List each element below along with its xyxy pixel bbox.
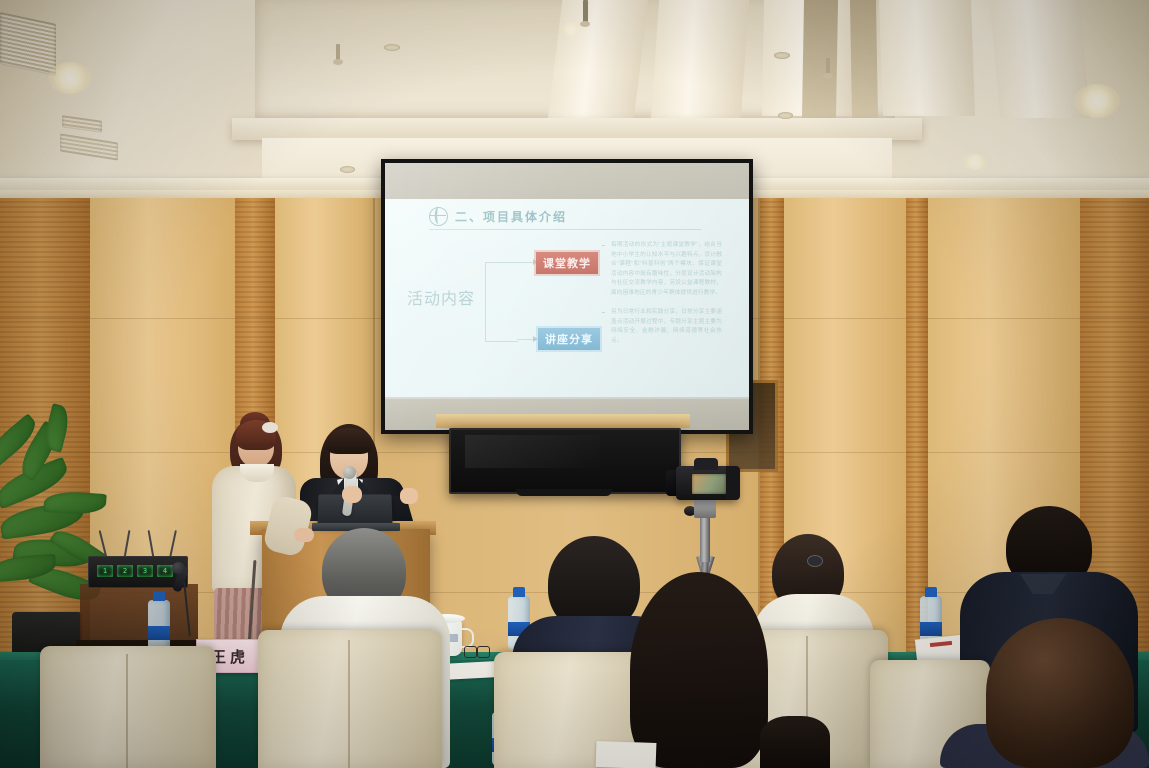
paper-sheet <box>596 741 657 768</box>
ceiling-rib <box>651 0 749 118</box>
downlight <box>560 22 582 37</box>
ceiling-fixture <box>340 166 355 173</box>
tv-reflection <box>465 435 602 468</box>
camera-viewfinder <box>694 458 718 470</box>
microphone-head-icon <box>343 466 356 479</box>
presentation-slide: 二、项目具体介绍 活动内容 课堂教学 讲座分享 每期活动的形式为“主题课堂教学”… <box>385 199 749 397</box>
ceiling <box>0 0 1149 180</box>
projection-screen: 二、项目具体介绍 活动内容 课堂教学 讲座分享 每期活动的形式为“主题课堂教学”… <box>381 159 753 434</box>
hair-scrunchie <box>262 422 278 433</box>
tv-stand <box>516 489 612 496</box>
presenter-right-mic-hand <box>342 486 362 503</box>
attendee-3-head <box>630 572 768 768</box>
camera-grip <box>726 466 740 500</box>
receiver-channel-display: 3 <box>137 565 153 577</box>
ceiling-fixture <box>778 112 793 119</box>
chair-seam <box>126 654 128 768</box>
chair-seam <box>348 640 350 768</box>
ceiling-rib <box>548 0 649 120</box>
conference-room-photo: 二、项目具体介绍 活动内容 课堂教学 讲座分享 每期活动的形式为“主题课堂教学”… <box>0 0 1149 768</box>
ceiling-projector-mount <box>583 0 588 22</box>
screen-letterbox-top <box>385 163 749 199</box>
ceiling-tray-recess <box>255 0 895 122</box>
eyeglasses <box>464 646 490 658</box>
downlight <box>1074 84 1120 118</box>
slide-title: 二、项目具体介绍 <box>429 207 567 226</box>
presenter-right-hand <box>400 488 418 504</box>
tv-shelf <box>436 414 690 428</box>
globe-icon <box>429 207 448 226</box>
sprinkler-icon <box>826 58 830 74</box>
slide-title-rule <box>429 229 701 230</box>
hair-clip <box>808 556 822 566</box>
presenter-left-hand <box>294 528 314 542</box>
presenter-right-bangs <box>326 428 372 454</box>
receiver-channel-display: 4 <box>157 565 173 577</box>
diagram-arrow-top <box>517 262 537 263</box>
diagram-branch-classroom: 课堂教学 <box>536 252 598 274</box>
ceiling-tray-lip <box>232 118 922 140</box>
tripod-head[interactable] <box>694 498 716 518</box>
ceiling-rib <box>879 0 975 116</box>
chair <box>40 646 216 768</box>
sprinkler-icon <box>336 44 340 60</box>
slide-paragraph-2: 另为日常行业和实践分享，日常分享主要涵盖点活动开展过程中，专题分享主题主要为网络… <box>602 308 722 346</box>
diagram-bracket <box>485 262 518 342</box>
diagram-branch-lecture: 讲座分享 <box>538 328 600 350</box>
ceiling-fixture <box>384 44 400 51</box>
chair <box>258 630 442 768</box>
slide-body-column: 每期活动的形式为“主题课堂教学”，结合当地中小学生的认知水平与兴趣特点，设计融合… <box>602 241 722 356</box>
receiver-channel-display: 2 <box>117 565 133 577</box>
tea-cup-handle <box>460 628 474 648</box>
ceiling-fixture <box>774 52 790 59</box>
ceiling-gap <box>850 0 878 118</box>
camera-lcd-screen <box>692 474 726 494</box>
slide-title-text: 二、项目具体介绍 <box>455 208 567 225</box>
flat-screen-tv <box>449 428 681 494</box>
name-plate-text: 王虎 <box>211 646 249 667</box>
microphone-head-icon <box>172 562 185 574</box>
attendee-6-head <box>986 618 1134 768</box>
slide-paragraph-1: 每期活动的形式为“主题课堂教学”，结合当地中小学生的认知水平与兴趣特点，设计融合… <box>602 241 722 298</box>
downlight <box>48 62 92 94</box>
attendee-7-head <box>760 716 830 768</box>
tripod-column <box>700 516 710 562</box>
diagram-root-label: 活动内容 <box>407 285 475 309</box>
ceiling-gap <box>802 0 838 120</box>
receiver-channel-display: 1 <box>97 565 113 577</box>
downlight <box>962 154 988 170</box>
diagram-arrow-bottom <box>517 339 537 340</box>
